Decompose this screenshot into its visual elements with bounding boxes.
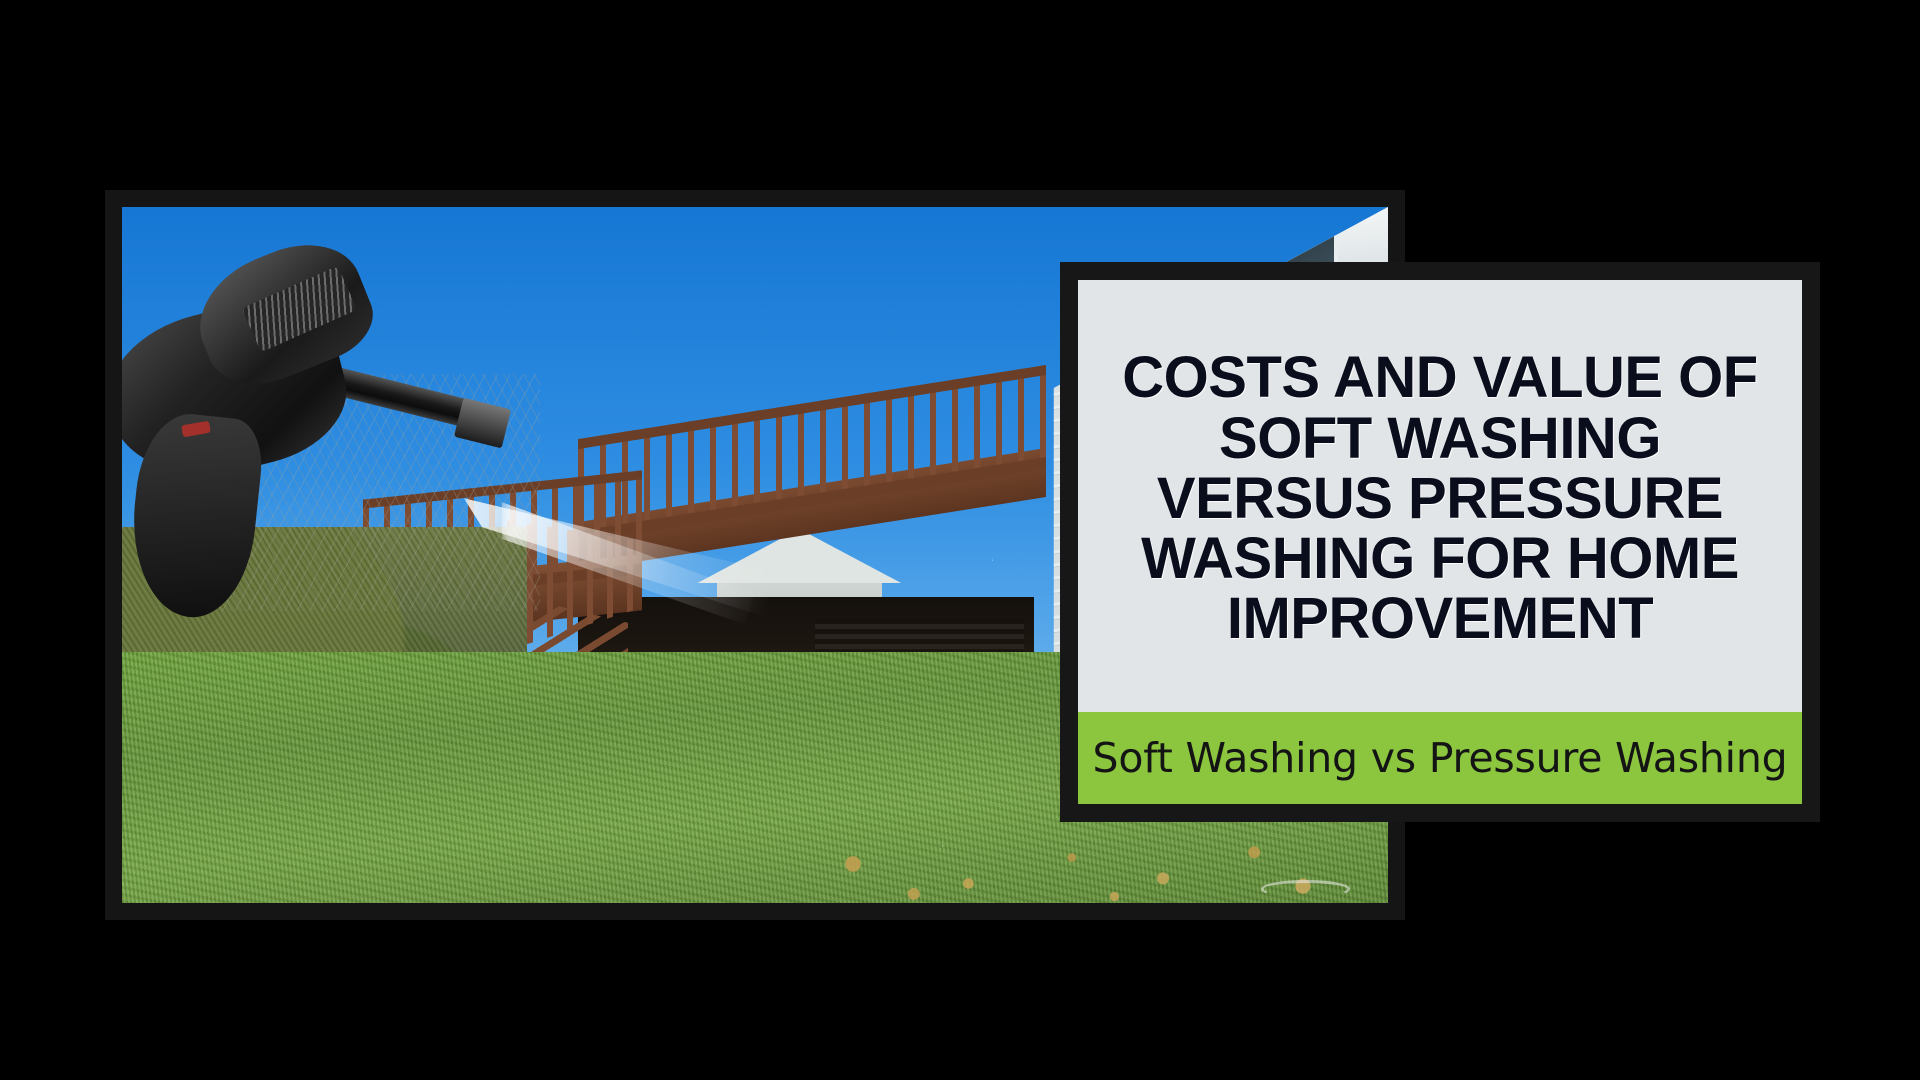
subtitle-bar: Soft Washing vs Pressure Washing — [1078, 712, 1802, 804]
subtitle-text: Soft Washing vs Pressure Washing — [1093, 734, 1788, 782]
title-card: COSTS AND VALUE OF SOFT WASHING VERSUS P… — [1060, 262, 1820, 822]
spray-nozzle-icon — [454, 397, 511, 448]
graphic-canvas: COSTS AND VALUE OF SOFT WASHING VERSUS P… — [0, 0, 1920, 1080]
garden-hose — [1261, 880, 1350, 898]
title-block: COSTS AND VALUE OF SOFT WASHING VERSUS P… — [1078, 280, 1802, 712]
page-title: COSTS AND VALUE OF SOFT WASHING VERSUS P… — [1100, 348, 1780, 650]
title-card-panel: COSTS AND VALUE OF SOFT WASHING VERSUS P… — [1078, 280, 1802, 804]
pressure-washer-gun — [122, 221, 514, 625]
